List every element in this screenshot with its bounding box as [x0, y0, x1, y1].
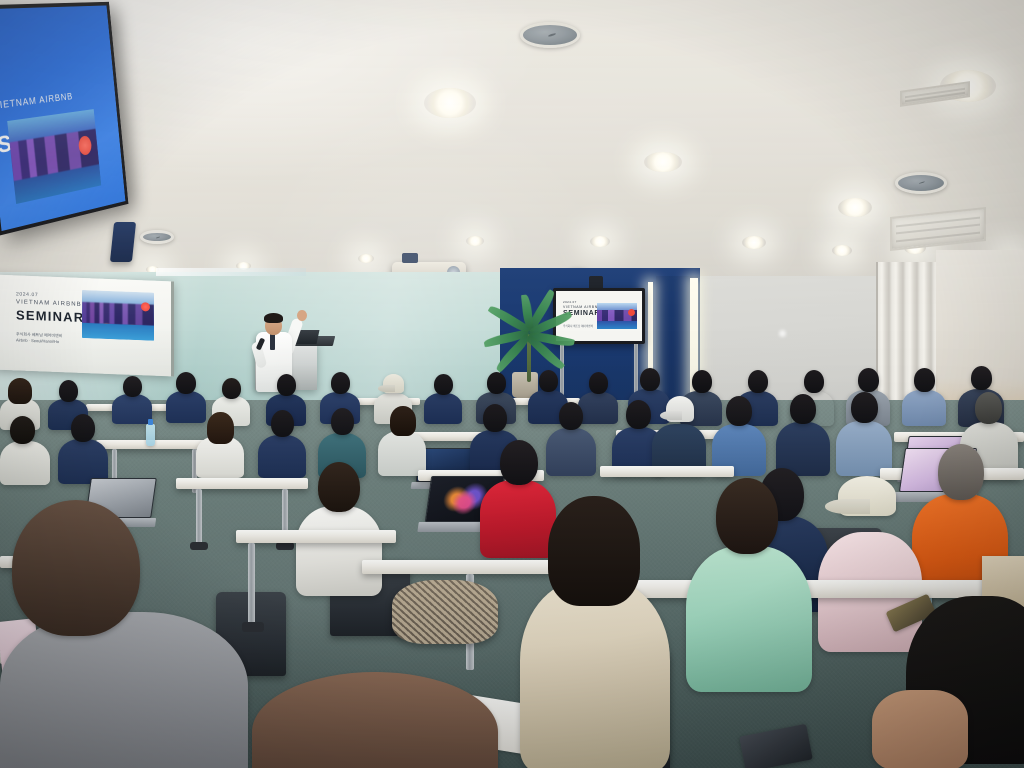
list-item: [902, 368, 946, 424]
attendee-head: [626, 400, 651, 429]
attendee-head: [434, 374, 453, 395]
slide-text-block: 2024.07 VIETNAM AIRBNB SEMINAR: [16, 291, 84, 325]
attendee-head: [851, 392, 878, 423]
seminar-room-photo: 2024.07 VIETNAM AIRBNB SEMINAR 주식회사 베트남 …: [0, 0, 1024, 768]
attendee-torso: [424, 393, 462, 424]
list-item: [652, 396, 706, 472]
attendee-head: [483, 404, 507, 432]
right-tv-subtitle: VIETNAM AIRBNB: [563, 305, 601, 309]
left-tv-mount-arm: [110, 222, 136, 262]
right-tv-footnote: 주식회사 베트남 에어비앤비: [563, 325, 593, 329]
attendee-hand: [872, 690, 968, 768]
attendee-head: [123, 376, 142, 397]
slide-subtitle: VIETNAM AIRBNB: [16, 299, 84, 308]
attendee-head: [790, 394, 816, 424]
attendee-cap: [383, 374, 404, 393]
presenter-placket: [270, 334, 275, 350]
speaker-icon: [895, 172, 947, 194]
attendee-head: [559, 402, 583, 430]
attendee-torso: [902, 390, 946, 426]
left-wall-tv: VIETNAM AIRBNB SEMINAR: [0, 2, 128, 236]
downlight-icon: [832, 245, 852, 256]
list-item: [424, 374, 462, 422]
attendee-hair: [548, 496, 640, 606]
attendee-head: [271, 410, 294, 437]
slide-title: SEMINAR: [16, 307, 84, 325]
attendee-hair: [390, 406, 416, 436]
downlight-icon: [644, 152, 682, 172]
right-tv-eyebrow: 2024.07: [563, 300, 601, 304]
attendee-head: [10, 416, 35, 444]
attendee-hair: [8, 378, 32, 404]
list-item: [520, 496, 670, 768]
attendee-torso: [520, 580, 670, 768]
wall-glass-band: [156, 268, 306, 276]
handbag: [392, 580, 498, 644]
attendee-head: [726, 396, 752, 426]
attendee-flat-cap: [838, 476, 896, 516]
downlight-icon: [590, 236, 610, 247]
attendee-head: [804, 370, 824, 393]
presenter-hair: [264, 313, 283, 323]
list-item: [712, 396, 766, 472]
desk-leg: [248, 543, 255, 627]
attendee-torso: [0, 441, 50, 485]
desk-foot: [276, 542, 294, 550]
attendee-head: [692, 370, 712, 393]
list-item: [252, 672, 498, 768]
speaker-icon: [520, 22, 580, 48]
attendee-torso: [112, 394, 152, 424]
attendee-head: [59, 380, 78, 402]
list-item: [58, 414, 108, 480]
main-projection-screen: 2024.07 VIETNAM AIRBNB SEMINAR 주식회사 베트남 …: [0, 275, 174, 377]
attendee-head: [500, 440, 538, 485]
attendee-head: [914, 368, 935, 392]
attendee-head: [252, 672, 498, 768]
desk: [600, 466, 734, 477]
list-item: [686, 478, 812, 678]
attendee-torso: [686, 546, 812, 692]
attendee-head: [716, 478, 778, 554]
list-item: [378, 406, 426, 472]
list-item: [776, 394, 830, 472]
attendee-head: [318, 462, 360, 512]
attendee-head: [331, 372, 350, 394]
list-item: [836, 392, 892, 472]
list-item: [0, 416, 50, 480]
speaker-icon: [140, 230, 174, 244]
attendee-head: [971, 366, 992, 390]
attendee-head: [975, 392, 1002, 424]
attendee-head: [331, 408, 354, 435]
ceiling-light-glow: [0, 0, 1024, 300]
attendee-head: [539, 370, 558, 392]
attendee-head: [487, 372, 506, 394]
attendee-head: [222, 378, 241, 399]
downlight-icon: [424, 88, 476, 118]
downlight-icon: [742, 236, 766, 249]
list-item: [0, 500, 248, 768]
downlight-icon: [466, 236, 484, 246]
presenter-raised-hand: [297, 310, 307, 321]
attendee-head: [71, 414, 95, 442]
desk: [176, 478, 308, 489]
ceiling: [0, 0, 1024, 300]
list-item: [196, 412, 244, 474]
attendee-head: [748, 370, 768, 393]
slide-cityscape-image: [82, 290, 154, 341]
attendee-head: [938, 444, 984, 500]
downlight-icon: [358, 254, 374, 263]
water-bottle: [146, 424, 155, 446]
slide-footnote: 주식회사 베트남 에어비앤비 Airbnb · Seoul/Hanoi/Ho: [16, 331, 62, 345]
attendee-head: [277, 374, 296, 396]
attendee-head: [12, 500, 140, 636]
attendee-hair: [207, 412, 234, 444]
list-item: [112, 376, 152, 420]
attendee-cap: [666, 396, 694, 422]
list-item: [872, 596, 1024, 768]
attendee-head: [858, 368, 879, 392]
attendee-torso: [0, 612, 248, 768]
slide-eyebrow: 2024.07: [16, 291, 84, 300]
attendee-torso: [296, 506, 382, 596]
attendee-head: [640, 368, 660, 391]
desk: [236, 530, 396, 543]
downlight-icon: [838, 198, 872, 217]
attendee-head: [589, 372, 608, 394]
slide-footnote-line2: Airbnb · Seoul/Hanoi/Ho: [16, 337, 62, 345]
attendee-head: [176, 372, 196, 394]
right-tv-cityscape-image: [597, 303, 637, 329]
